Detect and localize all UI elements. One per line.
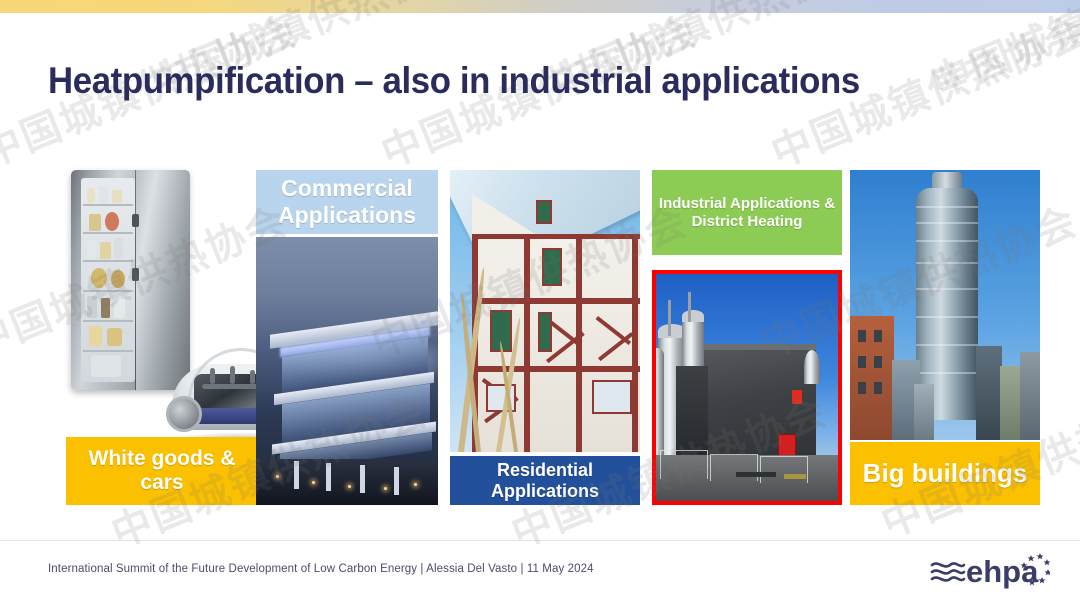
caption-industrial: Industrial Applications & District Heati… xyxy=(652,170,842,255)
application-gallery: White goods & cars Commercial Applicatio… xyxy=(0,160,1080,520)
photo-residential-house[interactable] xyxy=(450,170,640,452)
ehpa-logo[interactable]: ehpa xyxy=(930,545,1050,591)
footer-divider xyxy=(0,540,1080,541)
ehpa-wordmark: ehpa xyxy=(966,554,1039,589)
caption-white-goods: White goods & cars xyxy=(66,437,258,505)
caption-big-buildings: Big buildings xyxy=(850,442,1040,505)
wave-lines-icon xyxy=(932,563,964,580)
photo-commercial-building[interactable] xyxy=(256,237,438,505)
photo-industrial-plant-highlighted[interactable] xyxy=(652,270,842,505)
photo-big-buildings[interactable] xyxy=(850,170,1040,440)
caption-commercial: Commercial Applications xyxy=(256,170,438,234)
footer-text: International Summit of the Future Devel… xyxy=(48,563,594,575)
top-gradient-bar xyxy=(0,0,1080,13)
caption-residential: Residential Applications xyxy=(450,456,640,505)
page-title: Heatpumpification – also in industrial a… xyxy=(48,60,860,102)
ehpa-logo-svg: ehpa xyxy=(930,545,1050,591)
watermark-text: 中国城镇供热协会 xyxy=(921,0,1080,109)
